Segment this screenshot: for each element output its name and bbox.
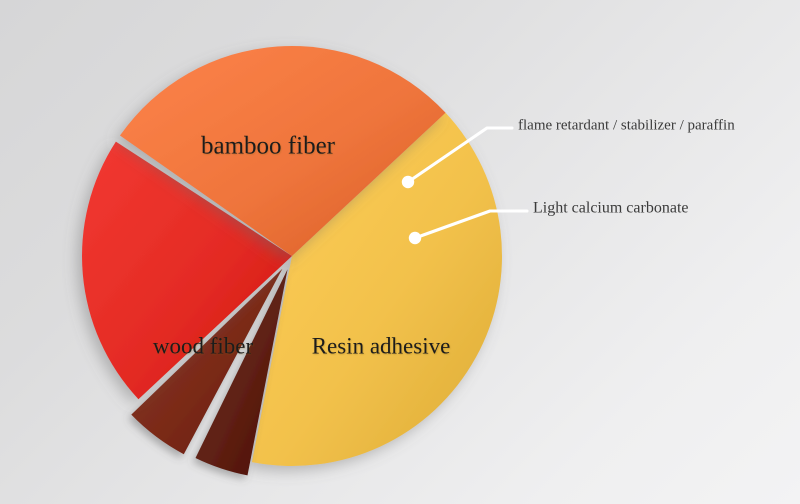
leader-dot-flame-retardant-stabilizer-paraffin [402, 176, 414, 188]
chart-canvas: bamboo fiberResin adhesivewood fiber fla… [0, 0, 800, 504]
pie-callout-label-light-calcium-carbonate: Light calcium carbonate [533, 200, 688, 217]
pie-slice-label-resin-adhesive: Resin adhesive [312, 333, 451, 358]
leader-dot-light-calcium-carbonate [409, 232, 421, 244]
pie-slices-group [82, 46, 502, 475]
pie-callout-label-flame-retardant-stabilizer-paraffin: flame retardant / stabilizer / paraffin [518, 117, 735, 133]
pie-slice-label-wood-fiber: wood fiber [153, 333, 254, 358]
pie-slice-label-bamboo-fiber: bamboo fiber [201, 133, 336, 160]
pie-chart: bamboo fiberResin adhesivewood fiber fla… [0, 0, 800, 504]
